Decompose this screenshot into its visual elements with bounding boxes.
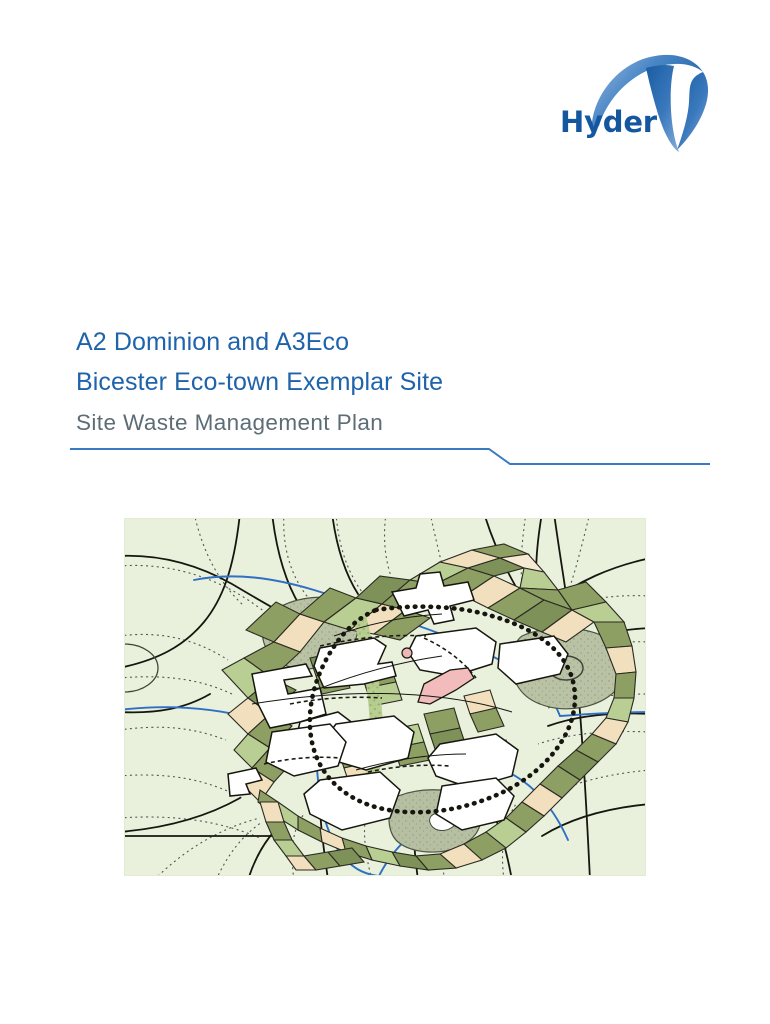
brand-logo: Hyder	[552, 48, 712, 158]
page-subtitle: Site Waste Management Plan	[76, 404, 696, 442]
masterplan-map-figure	[124, 518, 646, 876]
cover-title-block: A2 Dominion and A3Eco Bicester Eco-town …	[76, 322, 696, 442]
hyder-swoosh-logo-icon	[590, 48, 712, 156]
hyder-wordmark: Hyder	[560, 108, 657, 137]
page-title-project: Bicester Eco-town Exemplar Site	[76, 362, 696, 402]
page-title-client: A2 Dominion and A3Eco	[76, 322, 696, 362]
title-divider-rule	[70, 440, 710, 474]
